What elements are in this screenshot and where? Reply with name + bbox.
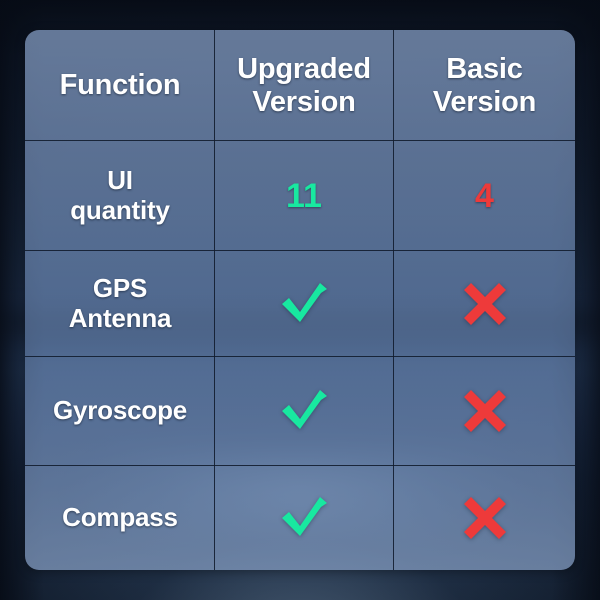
column-header-function-label: Function: [26, 69, 214, 101]
column-header-upgraded-version: Upgraded Version: [215, 31, 394, 141]
upgraded-ui-quantity-value: 11: [215, 179, 393, 213]
comparison-table-screenshot: Function Upgraded Version Basic Version: [0, 0, 600, 600]
upgraded-value-cell: [215, 466, 394, 571]
table-row: GPS Antenna: [26, 251, 576, 357]
column-header-basic-version: Basic Version: [394, 31, 576, 141]
feature-name-cell: Compass: [26, 466, 215, 571]
basic-value-cell: 4: [394, 141, 576, 251]
table-row: UI quantity 11 4: [26, 141, 576, 251]
upgraded-value-cell: [215, 357, 394, 466]
basic-value-cell: [394, 466, 576, 571]
cross-icon: [462, 388, 508, 434]
upgraded-value-cell: [215, 251, 394, 357]
cross-icon: [462, 495, 508, 541]
feature-name-cell: UI quantity: [26, 141, 215, 251]
column-header-upgraded-line1: Upgraded: [215, 53, 393, 85]
feature-name-line1: UI: [26, 166, 214, 196]
feature-name-cell: Gyroscope: [26, 357, 215, 466]
table-row: Gyroscope: [26, 357, 576, 466]
feature-name-line1: Gyroscope: [26, 396, 214, 426]
basic-value-cell: [394, 357, 576, 466]
column-header-function: Function: [26, 31, 215, 141]
upgraded-value-cell: 11: [215, 141, 394, 251]
basic-value-cell: [394, 251, 576, 357]
check-icon: [278, 495, 330, 541]
feature-name-line1: Compass: [26, 503, 214, 533]
feature-name-line1: GPS: [26, 274, 214, 304]
feature-name-cell: GPS Antenna: [26, 251, 215, 357]
table-row: Compass: [26, 466, 576, 571]
column-header-upgraded-line2: Version: [215, 86, 393, 118]
basic-ui-quantity-value: 4: [394, 179, 575, 213]
feature-name-line2: quantity: [26, 196, 214, 226]
column-header-basic-line2: Version: [394, 86, 575, 118]
feature-name-line2: Antenna: [26, 304, 214, 334]
table-header-row: Function Upgraded Version Basic Version: [26, 31, 576, 141]
check-icon: [278, 281, 330, 327]
check-icon: [278, 388, 330, 434]
column-header-basic-line1: Basic: [394, 53, 575, 85]
comparison-table: Function Upgraded Version Basic Version: [25, 30, 575, 570]
cross-icon: [462, 281, 508, 327]
feature-comparison-table: Function Upgraded Version Basic Version: [25, 30, 575, 570]
